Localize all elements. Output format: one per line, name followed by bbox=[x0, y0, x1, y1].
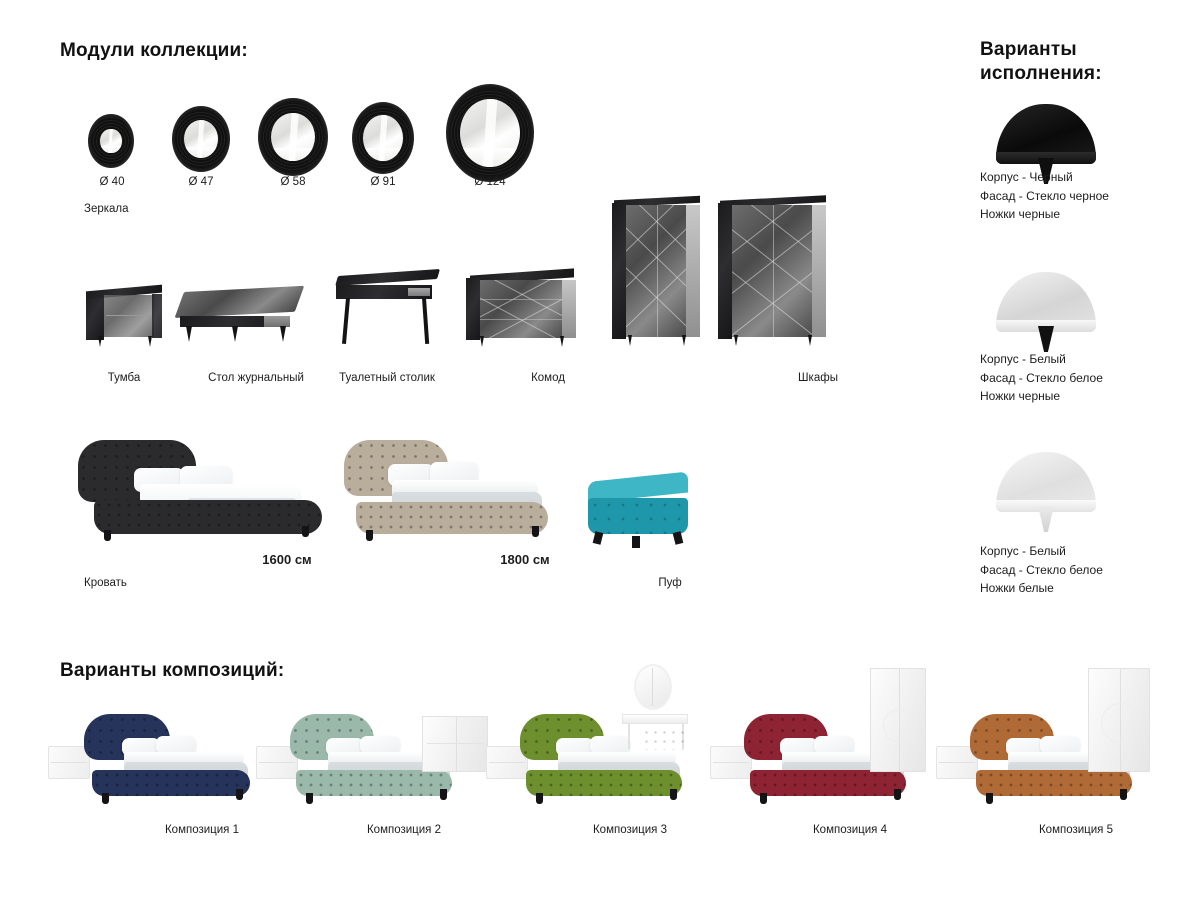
wardrobe-right-panel bbox=[812, 205, 826, 337]
wardrobe-mid-seam bbox=[657, 205, 658, 337]
swatch-leg bbox=[1038, 506, 1054, 532]
dresser-leg-left bbox=[480, 336, 484, 347]
mirror-frame bbox=[352, 102, 414, 174]
furniture-bed-1600[interactable] bbox=[78, 438, 318, 544]
bed-frame bbox=[94, 500, 322, 534]
mirror-glass bbox=[184, 120, 218, 158]
label-composition-5: Композиция 5 bbox=[1024, 824, 1128, 836]
bed-frame bbox=[976, 770, 1132, 796]
label-bed: Кровать bbox=[84, 577, 164, 589]
composition-4[interactable] bbox=[710, 668, 950, 810]
swatch-fan-surface bbox=[996, 452, 1096, 512]
label-composition-2: Композиция 2 bbox=[352, 824, 456, 836]
mirror-item-58[interactable] bbox=[258, 98, 328, 176]
bed-leg-left bbox=[536, 793, 543, 804]
nightstand-side-panel bbox=[152, 294, 162, 338]
bed-leg-right bbox=[894, 789, 901, 800]
label-composition-1: Композиция 1 bbox=[150, 824, 254, 836]
mirror-size-label-58: Ø 58 bbox=[267, 176, 319, 188]
variant-spec-white: Корпус - Белый Фасад - Стекло белое Ножк… bbox=[980, 542, 1180, 598]
comp-bed bbox=[84, 714, 248, 806]
mirror-item-91[interactable] bbox=[352, 102, 414, 174]
bed-frame bbox=[296, 770, 452, 796]
label-composition-3: Композиция 3 bbox=[578, 824, 682, 836]
dresser-left-panel bbox=[466, 278, 480, 340]
bed-leg-right bbox=[1120, 789, 1127, 800]
bed-leg-right bbox=[302, 526, 309, 537]
bed-size-1800: 1800 см bbox=[470, 552, 580, 567]
furniture-dresser[interactable] bbox=[466, 272, 578, 350]
mirror-item-47[interactable] bbox=[172, 106, 230, 172]
bed-leg-left bbox=[102, 793, 109, 804]
furniture-bed-1800[interactable] bbox=[344, 436, 544, 544]
composition-5[interactable] bbox=[936, 668, 1176, 810]
swatch-fan-surface bbox=[996, 272, 1096, 332]
furniture-vanity-table[interactable] bbox=[336, 276, 442, 346]
dresser-leg-right bbox=[560, 336, 564, 347]
bed-leg-right bbox=[440, 789, 447, 800]
variant-swatch-white[interactable] bbox=[996, 452, 1096, 538]
vanity-drawer-pull bbox=[408, 288, 430, 296]
mirror-item-124[interactable] bbox=[446, 84, 534, 182]
swatch-leg bbox=[1038, 326, 1054, 352]
page-title-modules: Модули коллекции: bbox=[60, 40, 248, 62]
variant-spec-black: Корпус - Черный Фасад - Стекло черное Но… bbox=[980, 168, 1180, 224]
furniture-wardrobe-narrow[interactable] bbox=[612, 198, 702, 350]
catalog-page: Модули коллекции: Варианты исполнения: В… bbox=[0, 0, 1200, 900]
page-title-variants: Варианты исполнения: bbox=[980, 38, 1170, 86]
label-nightstand: Тумба bbox=[84, 372, 164, 384]
mirror-frame bbox=[446, 84, 534, 182]
mirror-glass bbox=[271, 113, 314, 161]
coffee-table-top bbox=[175, 286, 305, 318]
bed-leg-left bbox=[986, 793, 993, 804]
nightstand-open-shelf bbox=[104, 295, 154, 337]
bed-frame bbox=[526, 770, 682, 796]
dresser-glass-front bbox=[480, 280, 564, 338]
wardrobe-left-panel bbox=[718, 203, 732, 339]
comp-wardrobe bbox=[870, 668, 926, 772]
bed-size-1600: 1600 см bbox=[232, 552, 342, 567]
comp-mirror-icon bbox=[634, 664, 672, 710]
wardrobe-leg-left bbox=[628, 335, 632, 346]
comp-dresser bbox=[422, 716, 488, 772]
label-vanity-table: Туалетный столик bbox=[312, 372, 462, 384]
comp-puf-leg-left bbox=[644, 748, 649, 756]
mirror-glass bbox=[100, 129, 121, 154]
mirror-size-label-47: Ø 47 bbox=[175, 176, 227, 188]
composition-2[interactable] bbox=[256, 700, 486, 808]
vanity-leg-right bbox=[422, 298, 429, 344]
composition-3[interactable] bbox=[486, 664, 716, 810]
dresser-right-panel bbox=[562, 280, 576, 338]
comp-vanity-leg-left bbox=[628, 723, 630, 749]
bed-leg-right bbox=[670, 789, 677, 800]
mirror-glass bbox=[363, 115, 403, 161]
mirror-size-label-91: Ø 91 bbox=[357, 176, 409, 188]
page-title-compositions: Варианты композиций: bbox=[60, 660, 284, 682]
bed-frame bbox=[92, 770, 250, 796]
wardrobe-glass-front bbox=[732, 205, 814, 337]
coffee-table-leg-2 bbox=[232, 326, 238, 342]
vanity-leg-left bbox=[342, 298, 350, 344]
nightstand-carcass bbox=[86, 292, 104, 340]
comp-wardrobe bbox=[1088, 668, 1150, 772]
wardrobe-glass-front bbox=[626, 205, 688, 337]
bed-frame bbox=[356, 502, 548, 534]
furniture-wardrobe-wide[interactable] bbox=[718, 198, 828, 350]
mirror-frame bbox=[172, 106, 230, 172]
wardrobe-right-panel bbox=[686, 205, 700, 337]
composition-1[interactable] bbox=[48, 700, 258, 808]
dresser-drawer-line bbox=[427, 743, 483, 744]
coffee-table-leg-3 bbox=[280, 326, 286, 342]
bed-leg-left bbox=[366, 530, 373, 541]
wardrobe-decor-motif bbox=[1101, 703, 1141, 743]
coffee-table-leg-1 bbox=[186, 326, 192, 342]
dresser-drawer-line-2 bbox=[480, 319, 564, 320]
bed-leg-left bbox=[104, 530, 111, 541]
mirrors-group-label: Зеркала bbox=[84, 203, 174, 215]
swatch-fan-surface bbox=[996, 104, 1096, 164]
bed-leg-right bbox=[236, 789, 243, 800]
comp-puf-leg-right bbox=[680, 748, 685, 756]
label-composition-4: Композиция 4 bbox=[798, 824, 902, 836]
mirror-size-label-124: Ø 124 bbox=[464, 176, 516, 188]
wardrobe-decor-motif bbox=[883, 709, 917, 743]
bed-leg-right bbox=[532, 526, 539, 537]
bed-leg-left bbox=[760, 793, 767, 804]
mirror-item-40[interactable] bbox=[88, 114, 134, 168]
comp-puf bbox=[642, 728, 686, 750]
wardrobe-left-panel bbox=[612, 203, 626, 339]
nightstand-shelf-line bbox=[106, 315, 152, 316]
wardrobe-leg-right bbox=[808, 335, 812, 346]
dresser-diamond-pattern bbox=[480, 280, 564, 338]
puf-leg-left bbox=[593, 531, 604, 545]
wardrobe-leg-left bbox=[734, 335, 738, 346]
mirror-frame bbox=[88, 114, 134, 168]
label-coffee-table: Стол журнальный bbox=[188, 372, 324, 384]
bed-frame bbox=[750, 770, 906, 796]
label-dresser: Комод bbox=[508, 372, 588, 384]
nightstand-drawer-line bbox=[51, 762, 86, 763]
dresser-seam bbox=[456, 717, 457, 771]
label-wardrobes: Шкафы bbox=[778, 372, 858, 384]
furniture-nightstand[interactable] bbox=[86, 288, 162, 344]
comp-vanity bbox=[622, 714, 688, 724]
furniture-coffee-table[interactable] bbox=[180, 292, 305, 344]
variant-swatch-white-black-legs[interactable] bbox=[996, 272, 1096, 358]
wardrobe-mid-seam bbox=[773, 205, 774, 337]
label-puf: Пуф bbox=[640, 577, 700, 589]
puf-leg-mid bbox=[632, 536, 640, 548]
coffee-table-drawer-front bbox=[264, 316, 290, 327]
comp-mirror-seam bbox=[652, 668, 653, 706]
mirror-frame bbox=[258, 98, 328, 176]
nightstand-leg-left bbox=[98, 336, 102, 347]
vanity-top bbox=[335, 269, 440, 286]
mirror-size-label-40: Ø 40 bbox=[86, 176, 138, 188]
bed-leg-left bbox=[306, 793, 313, 804]
dresser-drawer-line-1 bbox=[480, 299, 564, 300]
nightstand-leg-right bbox=[148, 336, 152, 347]
furniture-puf[interactable] bbox=[588, 482, 688, 544]
mirror-glass bbox=[460, 99, 520, 168]
puf-body bbox=[588, 498, 688, 534]
wardrobe-leg-right bbox=[682, 335, 686, 346]
variant-spec-white-black-legs: Корпус - Белый Фасад - Стекло белое Ножк… bbox=[980, 350, 1180, 406]
